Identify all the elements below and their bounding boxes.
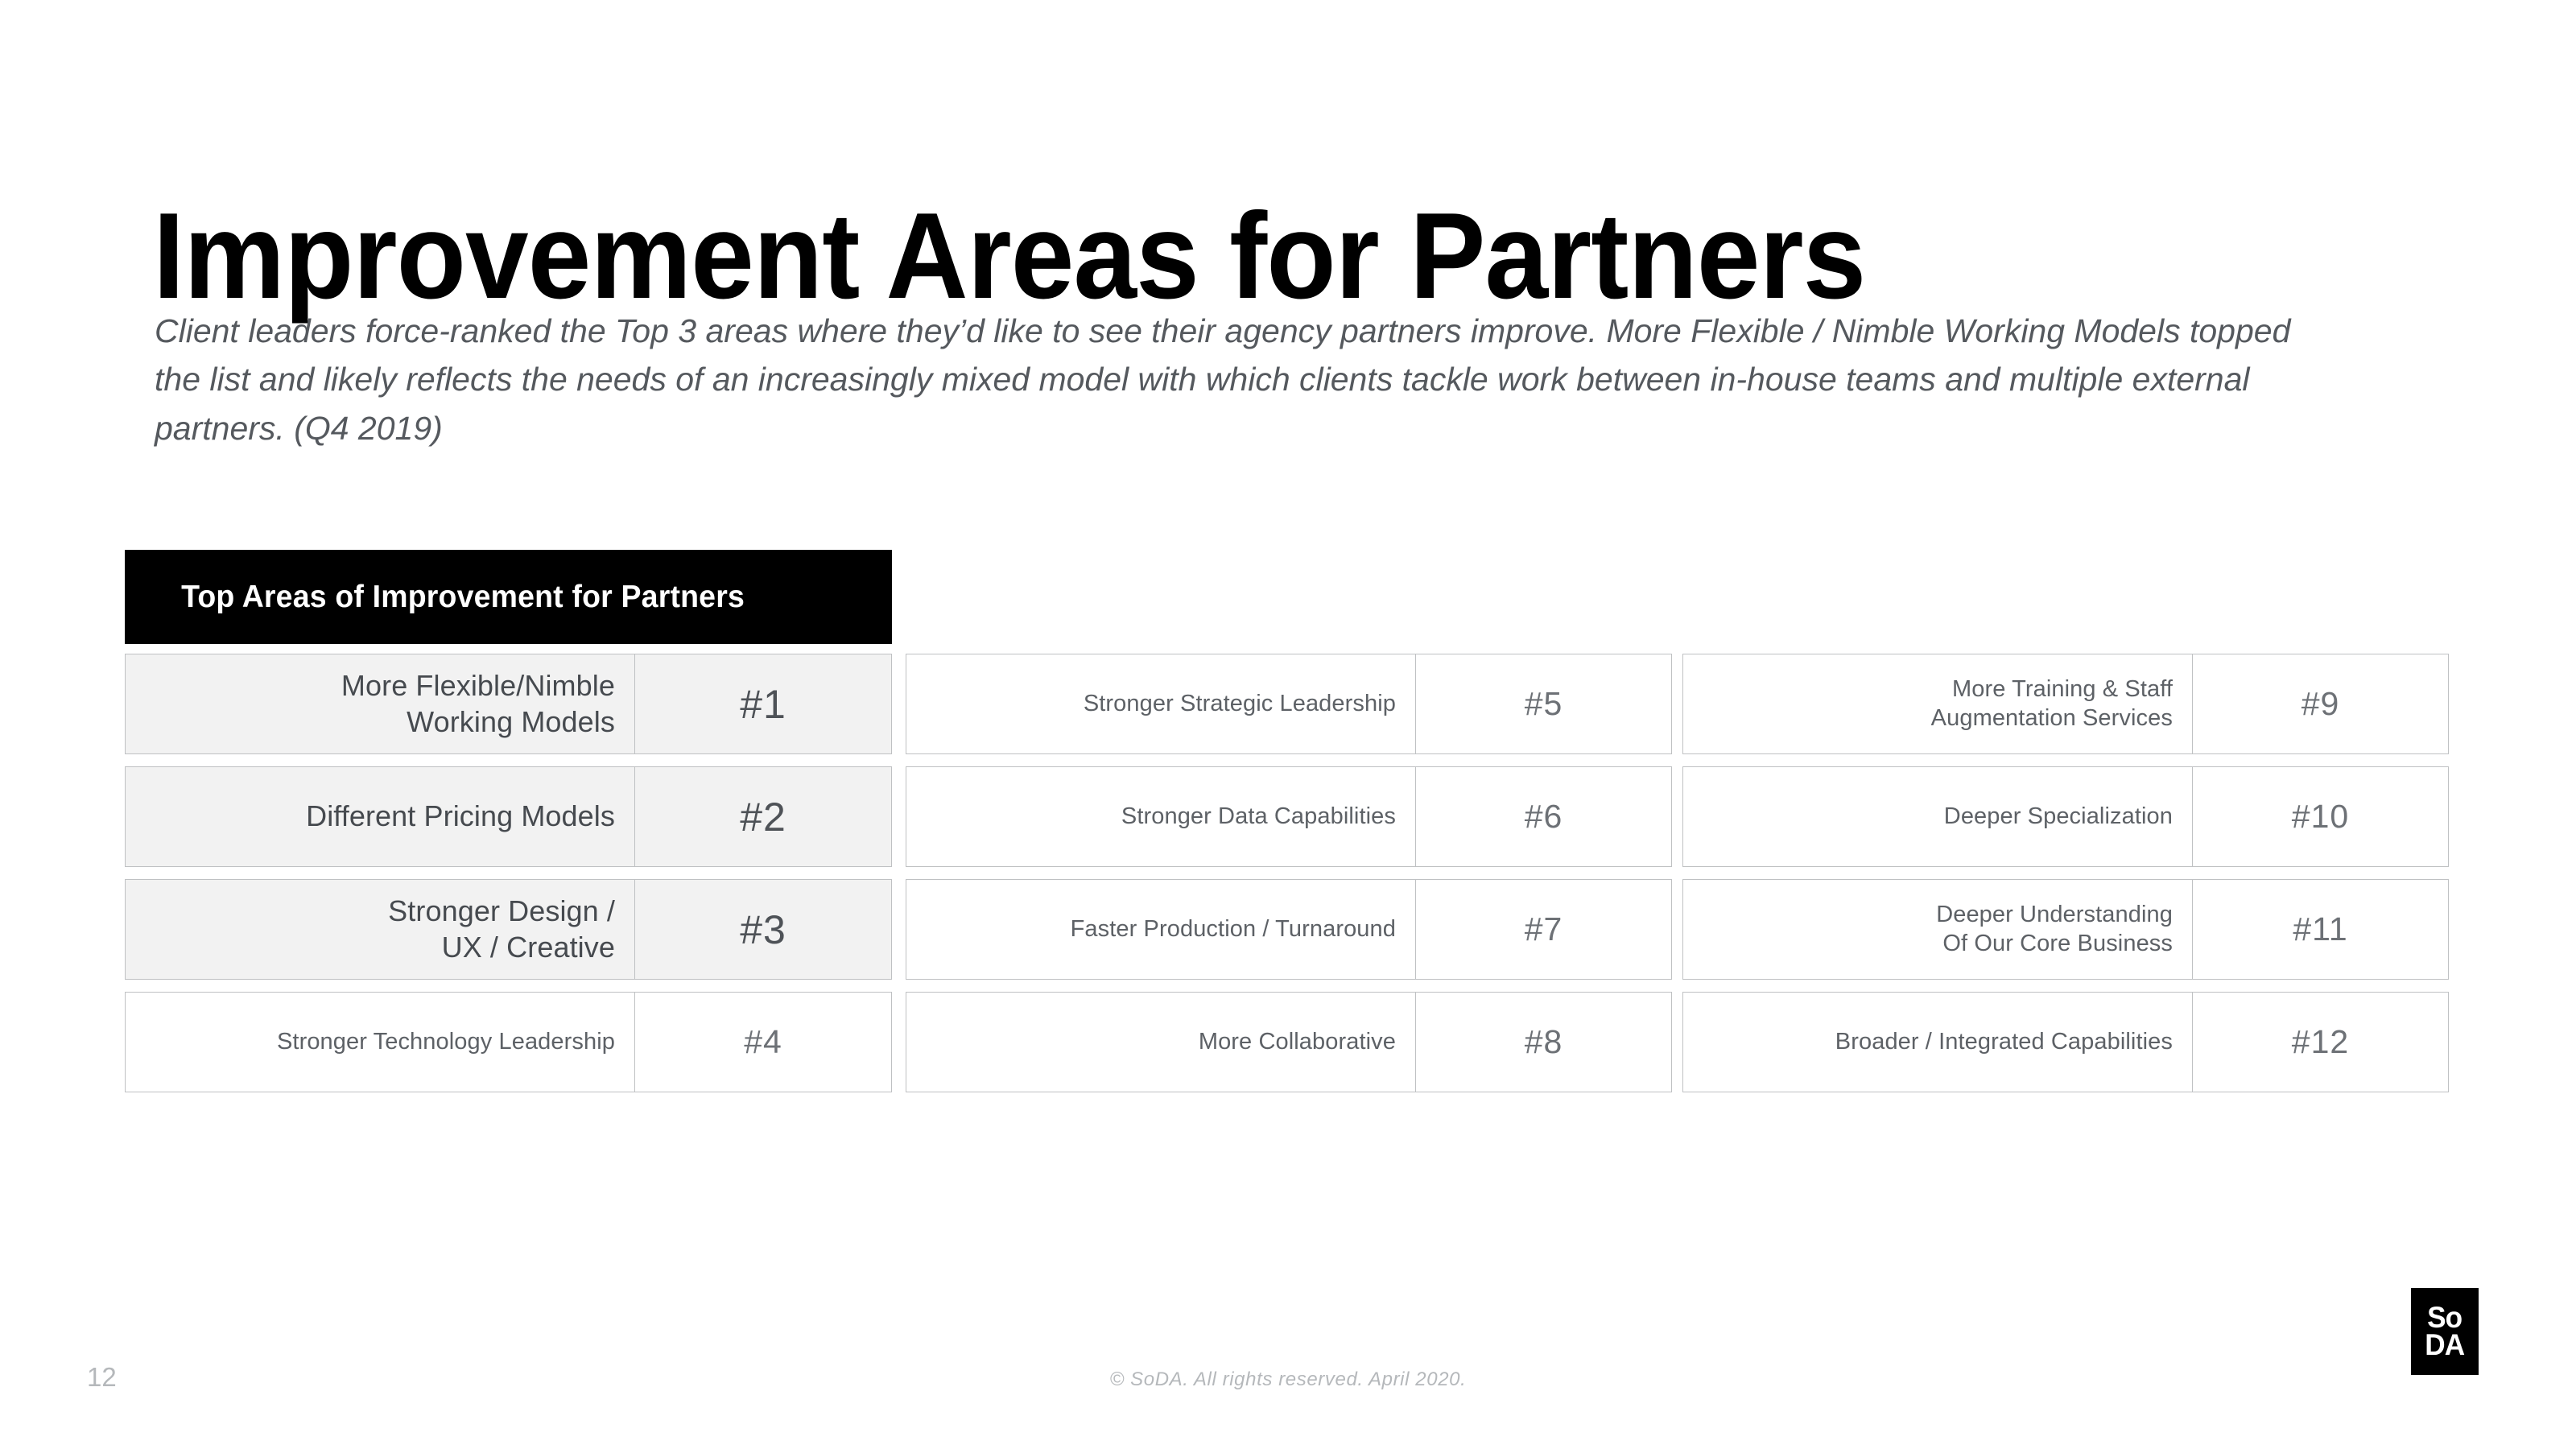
logo-line-bottom: DA: [2425, 1331, 2465, 1359]
table-row[interactable]: Faster Production / Turnaround#7: [906, 879, 1672, 980]
rank-value: #11: [2293, 913, 2347, 946]
table-row[interactable]: More Flexible/NimbleWorking Models#1: [125, 654, 892, 754]
page-subtitle: Client leaders force-ranked the Top 3 ar…: [155, 307, 2312, 452]
improvement-area-label: Stronger Design /UX / Creative: [388, 894, 615, 965]
rank-cell: #7: [1416, 880, 1671, 979]
improvement-area-cell: Stronger Strategic Leadership: [906, 654, 1416, 753]
rank-cell: #4: [635, 993, 891, 1092]
rank-value: #6: [1525, 800, 1563, 833]
improvement-area-label: More Training & StaffAugmentation Servic…: [1931, 675, 2173, 733]
rank-cell: #1: [635, 654, 891, 753]
improvement-area-cell: Faster Production / Turnaround: [906, 880, 1416, 979]
improvement-area-cell: Stronger Design /UX / Creative: [126, 880, 635, 979]
table-row[interactable]: More Collaborative#8: [906, 992, 1672, 1092]
rank-cell: #6: [1416, 767, 1671, 866]
table-row[interactable]: Stronger Data Capabilities#6: [906, 766, 1672, 867]
improvement-area-cell: Different Pricing Models: [126, 767, 635, 866]
table-header-label: Top Areas of Improvement for Partners: [125, 580, 745, 615]
improvement-area-label: Stronger Technology Leadership: [277, 1028, 615, 1057]
rank-cell: #2: [635, 767, 891, 866]
improvement-group-2: Stronger Strategic Leadership#5Stronger …: [906, 654, 1672, 1104]
rank-cell: #8: [1416, 993, 1671, 1092]
improvement-area-cell: Stronger Technology Leadership: [126, 993, 635, 1092]
improvement-area-label: Broader / Integrated Capabilities: [1835, 1028, 2173, 1057]
table-row[interactable]: Stronger Technology Leadership#4: [125, 992, 892, 1092]
improvement-area-label: Stronger Data Capabilities: [1121, 803, 1396, 832]
improvement-area-label: More Flexible/NimbleWorking Models: [341, 668, 615, 740]
rank-value: #4: [744, 1026, 782, 1059]
improvement-area-label: Different Pricing Models: [306, 799, 615, 835]
rank-value: #9: [2301, 687, 2340, 720]
table-row[interactable]: More Training & StaffAugmentation Servic…: [1682, 654, 2449, 754]
improvement-area-cell: More Flexible/NimbleWorking Models: [126, 654, 635, 753]
improvement-area-label: Deeper UnderstandingOf Our Core Business: [1936, 901, 2173, 959]
improvement-area-cell: More Collaborative: [906, 993, 1416, 1092]
soda-logo: So DA: [2411, 1288, 2479, 1375]
rank-value: #10: [2292, 800, 2349, 833]
table-row[interactable]: Stronger Strategic Leadership#5: [906, 654, 1672, 754]
rank-value: #3: [740, 910, 786, 950]
improvement-area-label: Stronger Strategic Leadership: [1084, 690, 1396, 719]
rank-cell: #5: [1416, 654, 1671, 753]
rank-value: #8: [1525, 1026, 1563, 1059]
table-row[interactable]: Stronger Design /UX / Creative#3: [125, 879, 892, 980]
improvement-area-cell: More Training & StaffAugmentation Servic…: [1683, 654, 2193, 753]
slide-canvas: Improvement Areas for Partners Client le…: [0, 0, 2576, 1449]
rank-cell: #3: [635, 880, 891, 979]
rank-value: #12: [2292, 1026, 2349, 1059]
improvement-area-cell: Deeper UnderstandingOf Our Core Business: [1683, 880, 2193, 979]
improvement-area-cell: Broader / Integrated Capabilities: [1683, 993, 2193, 1092]
improvement-area-label: More Collaborative: [1199, 1028, 1396, 1057]
improvement-area-label: Faster Production / Turnaround: [1071, 915, 1396, 944]
copyright-notice: © SoDA. All rights reserved. April 2020.: [0, 1368, 2576, 1391]
rank-value: #2: [740, 797, 786, 837]
page-title: Improvement Areas for Partners: [153, 195, 1865, 317]
table-row[interactable]: Different Pricing Models#2: [125, 766, 892, 867]
table-row[interactable]: Broader / Integrated Capabilities#12: [1682, 992, 2449, 1092]
table-row[interactable]: Deeper UnderstandingOf Our Core Business…: [1682, 879, 2449, 980]
rank-value: #5: [1525, 687, 1563, 720]
rank-cell: #10: [2193, 767, 2448, 866]
table-header-bar: Top Areas of Improvement for Partners: [125, 550, 892, 644]
rank-cell: #9: [2193, 654, 2448, 753]
improvement-area-label: Deeper Specialization: [1944, 803, 2173, 832]
rank-value: #1: [740, 684, 786, 724]
rank-cell: #12: [2193, 993, 2448, 1092]
improvement-area-cell: Stronger Data Capabilities: [906, 767, 1416, 866]
rank-value: #7: [1525, 913, 1563, 946]
logo-line-top: So: [2427, 1304, 2462, 1331]
improvement-area-cell: Deeper Specialization: [1683, 767, 2193, 866]
table-row[interactable]: Deeper Specialization#10: [1682, 766, 2449, 867]
improvement-group-1: More Flexible/NimbleWorking Models#1Diff…: [125, 654, 892, 1104]
improvement-group-3: More Training & StaffAugmentation Servic…: [1682, 654, 2449, 1104]
rank-cell: #11: [2193, 880, 2448, 979]
